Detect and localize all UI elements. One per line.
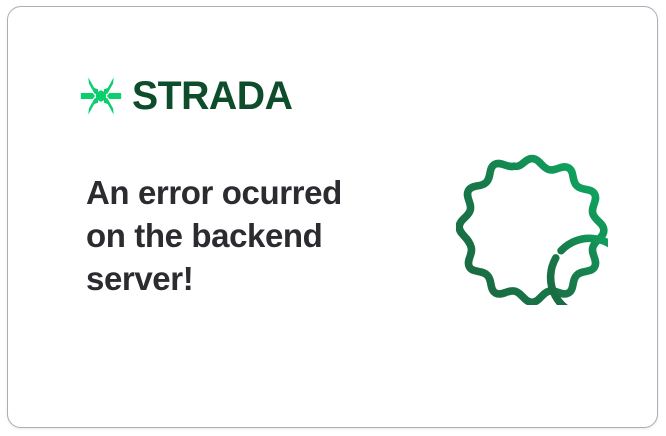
error-message: An error ocurred on the backend server! — [86, 171, 386, 300]
brand-wordmark: STRADA — [132, 76, 292, 116]
strada-asterisk-icon — [80, 75, 122, 117]
error-screen: STRADA An error ocurred on the backend s… — [0, 0, 666, 436]
gear-cog-icon — [456, 149, 608, 305]
error-card: STRADA An error ocurred on the backend s… — [7, 6, 658, 428]
brand-lockup: STRADA — [80, 75, 296, 117]
